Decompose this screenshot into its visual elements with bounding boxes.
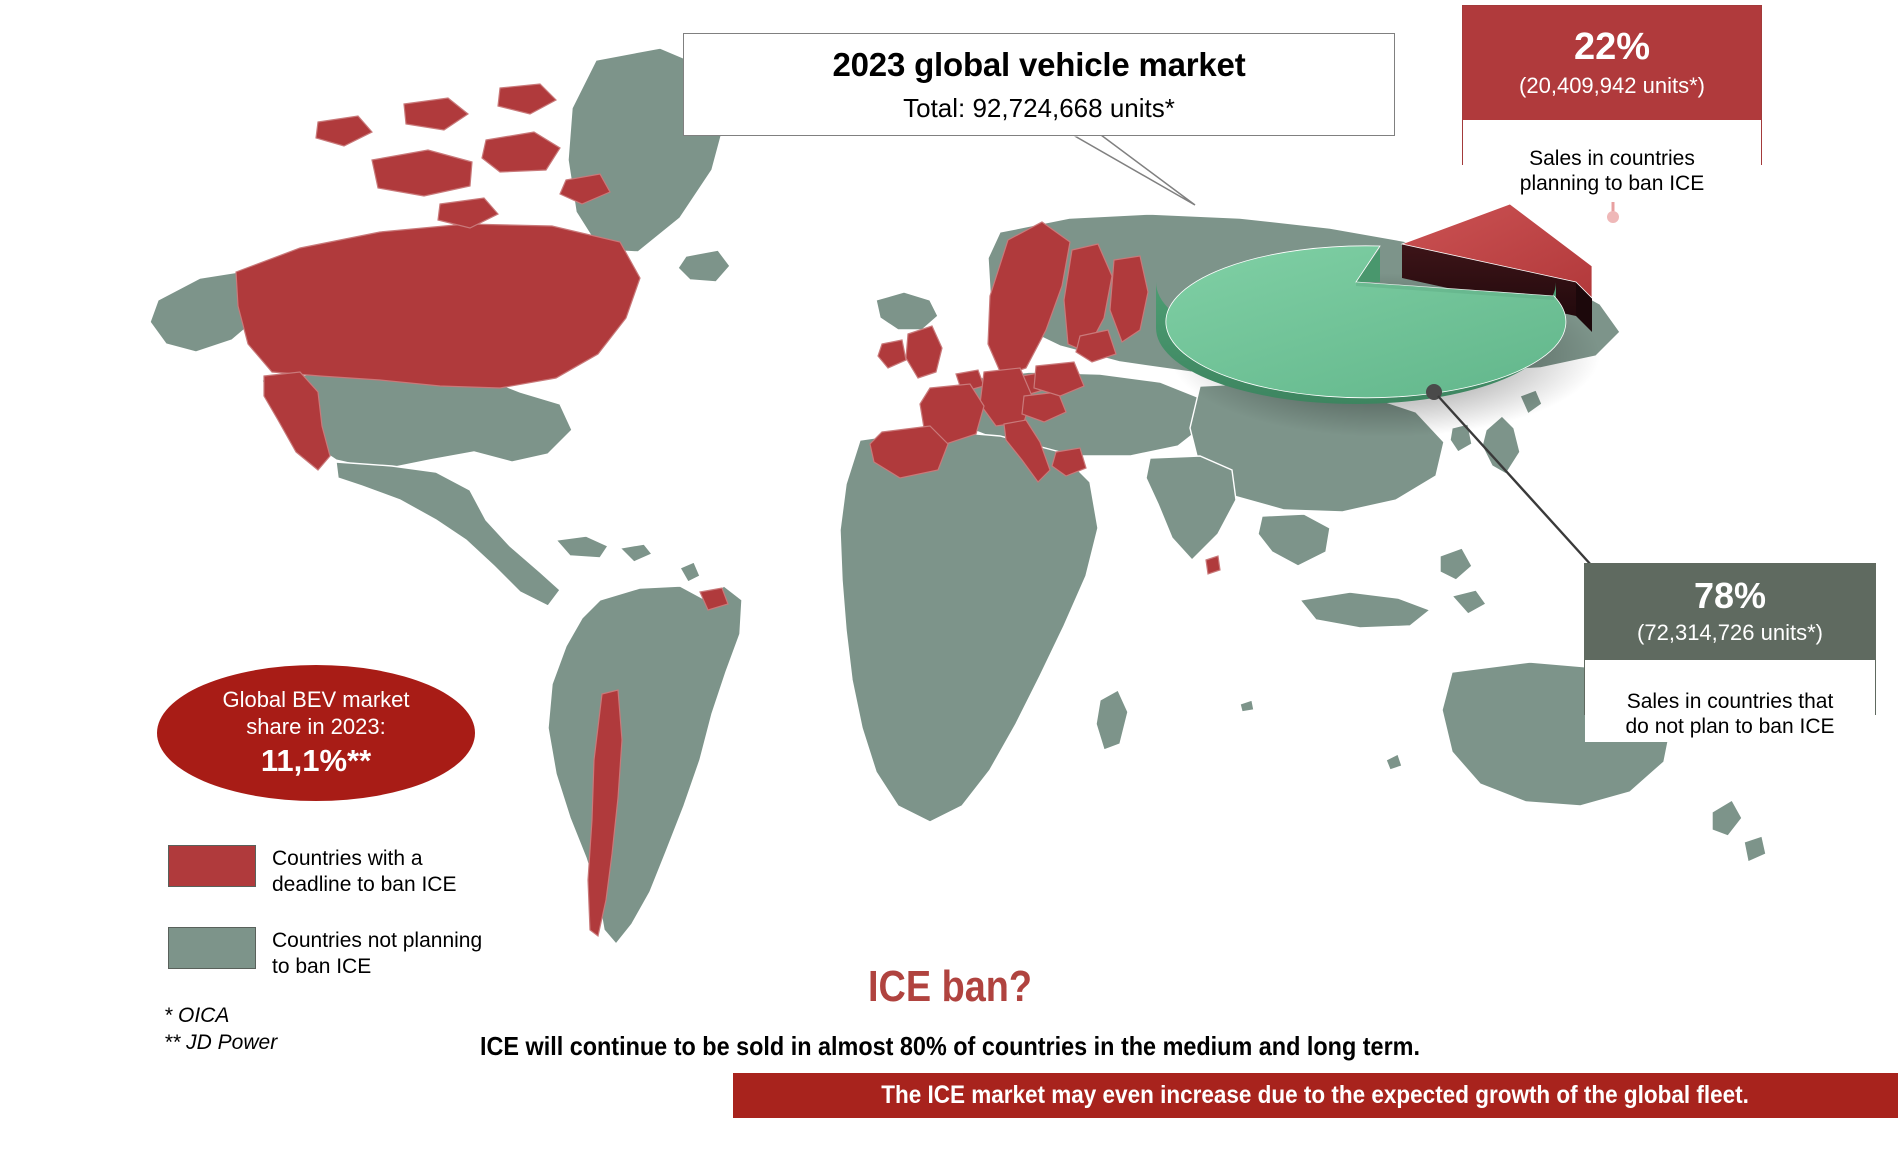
callout-global-market: 2023 global vehicle market Total: 92,724… bbox=[683, 33, 1395, 136]
legend-swatch-ban bbox=[168, 845, 256, 887]
bev-badge-line2: share in 2023: bbox=[246, 714, 385, 741]
callout-ban-desc-line2: planning to ban ICE bbox=[1520, 172, 1704, 197]
legend-label-ban-line2: deadline to ban ICE bbox=[272, 872, 456, 898]
legend-label-noban-line1: Countries not planning bbox=[272, 928, 482, 954]
ice-ban-subtitle: ICE will continue to be sold in almost 8… bbox=[95, 1031, 1805, 1062]
infographic-canvas: 2023 global vehicle market Total: 92,724… bbox=[0, 0, 1900, 1163]
callout-noban-percent: 78% bbox=[1694, 578, 1766, 614]
legend-label-ban: Countries with a deadline to ban ICE bbox=[272, 845, 456, 897]
callout-ban-percent: 22% bbox=[1574, 28, 1650, 66]
ice-ban-title: ICE ban? bbox=[133, 962, 1767, 1012]
callout-ban-description: Sales in countries planning to ban ICE bbox=[1463, 120, 1761, 202]
callout-noban-header: 78% (72,314,726 units*) bbox=[1585, 564, 1875, 660]
ice-market-banner-text: The ICE market may even increase due to … bbox=[882, 1081, 1750, 1110]
callout-noban-leader-line bbox=[1420, 380, 1600, 570]
bev-badge-value: 11,1%** bbox=[261, 743, 371, 779]
callout-global-market-title: 2023 global vehicle market bbox=[832, 46, 1245, 84]
callout-noban-description: Sales in countries that do not plan to b… bbox=[1585, 660, 1875, 742]
legend-label-ban-line1: Countries with a bbox=[272, 846, 456, 872]
callout-noban-countries: 78% (72,314,726 units*) Sales in countri… bbox=[1584, 563, 1876, 715]
callout-ban-units: (20,409,942 units*) bbox=[1519, 73, 1705, 99]
callout-noban-desc-line1: Sales in countries that bbox=[1627, 690, 1834, 715]
callout-ban-countries: 22% (20,409,942 units*) Sales in countri… bbox=[1462, 5, 1762, 165]
callout-noban-desc-line2: do not plan to ban ICE bbox=[1626, 715, 1835, 740]
ice-market-banner: The ICE market may even increase due to … bbox=[733, 1073, 1898, 1118]
bev-badge-line1: Global BEV market bbox=[222, 687, 409, 714]
callout-ban-desc-line1: Sales in countries bbox=[1529, 147, 1695, 172]
callout-noban-units: (72,314,726 units*) bbox=[1637, 620, 1823, 646]
legend-item-ban: Countries with a deadline to ban ICE bbox=[168, 845, 588, 897]
bev-market-share-badge: Global BEV market share in 2023: 11,1%** bbox=[157, 665, 475, 801]
callout-ban-header: 22% (20,409,942 units*) bbox=[1463, 6, 1761, 120]
callout-global-market-total: Total: 92,724,668 units* bbox=[903, 93, 1175, 124]
